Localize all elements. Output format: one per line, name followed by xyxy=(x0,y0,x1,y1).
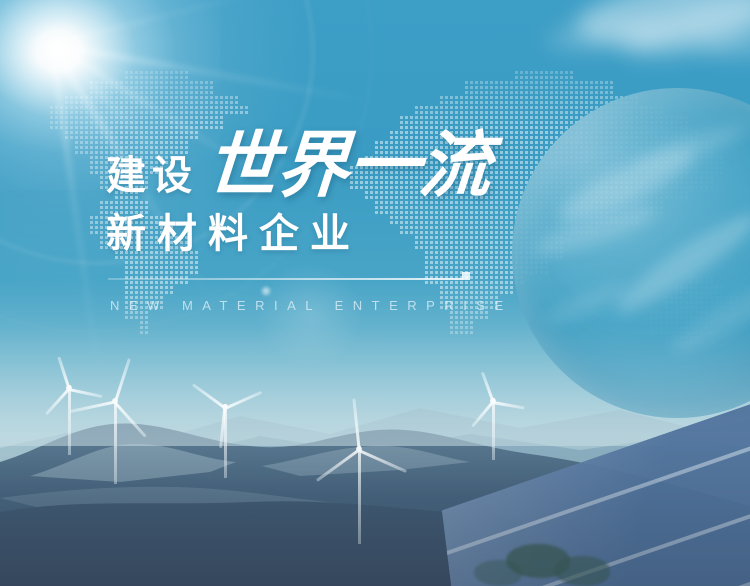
divider-end-square xyxy=(462,272,470,280)
wind-turbine xyxy=(218,404,232,478)
turbine-mast xyxy=(68,385,71,455)
headline-line-1: 建设 世界一流 xyxy=(106,128,526,202)
headline-block: 建设 世界一流 新材料企业 xyxy=(106,128,526,256)
turbine-hub xyxy=(356,446,362,452)
headline-emphasis: 世界一流 xyxy=(203,130,492,202)
subtitle-english: NEW MATERIAL ENTERPRISE xyxy=(110,298,513,313)
turbine-hub xyxy=(66,385,72,391)
landscape-scene xyxy=(0,326,750,586)
hero-banner: 建设 世界一流 新材料企业 NEW MATERIAL ENTERPRISE xyxy=(0,0,750,586)
divider-rule xyxy=(108,278,463,280)
wind-turbine xyxy=(486,398,500,460)
wind-turbine xyxy=(108,398,122,484)
lens-flare-point xyxy=(262,287,270,295)
foreground-shrub xyxy=(554,556,610,586)
divider xyxy=(108,272,470,282)
turbine-hub xyxy=(112,398,118,404)
headline-kicker: 建设 xyxy=(106,156,198,202)
turbine-hub xyxy=(490,398,496,404)
turbine-hub xyxy=(222,404,228,410)
wind-turbine xyxy=(62,385,76,455)
foreground-shrub xyxy=(474,560,522,586)
turbine-mast xyxy=(114,398,117,484)
turbine-mast xyxy=(492,398,495,460)
headline-line-2: 新材料企业 xyxy=(106,212,526,256)
turbine-mast xyxy=(358,446,361,544)
wind-turbine xyxy=(352,446,366,544)
